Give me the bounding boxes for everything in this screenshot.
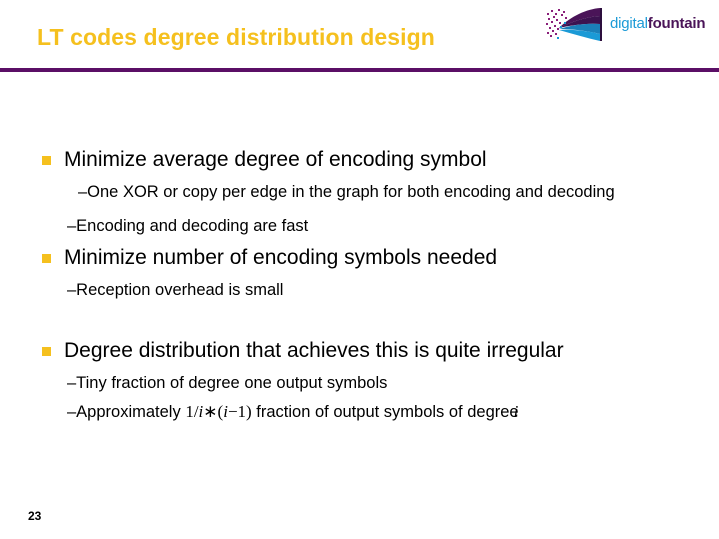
spacer xyxy=(0,237,719,244)
square-bullet-icon xyxy=(42,347,51,356)
slide: digitalfountain LT codes degree distribu… xyxy=(0,0,719,539)
formula-numerator: 1 xyxy=(185,402,194,421)
slide-title: LT codes degree distribution design xyxy=(37,24,435,51)
spacer xyxy=(0,394,719,401)
formula-line-prefix: –Approximately xyxy=(67,403,185,421)
formula-trailing-i: i xyxy=(514,402,519,421)
sub-bullet-2-1: –Reception overhead is small xyxy=(0,279,719,301)
square-bullet-icon xyxy=(42,156,51,165)
sub-bullet-1-2: –Encoding and decoding are fast xyxy=(0,215,719,237)
square-bullet-icon xyxy=(42,254,51,263)
formula-line-middle: fraction of output symbols of degree xyxy=(252,403,519,421)
fountain-logo-icon xyxy=(545,4,607,42)
page-number: 23 xyxy=(28,509,41,523)
spacer xyxy=(0,365,719,372)
spacer xyxy=(0,203,719,215)
brand-wordmark: digitalfountain xyxy=(610,16,705,31)
bullet-item-1: Minimize average degree of encoding symb… xyxy=(0,146,719,174)
slide-body: Minimize average degree of encoding symb… xyxy=(0,146,719,423)
formula-minus-operator: − xyxy=(228,402,238,421)
spacer xyxy=(0,272,719,279)
title-divider xyxy=(0,68,719,72)
bullet-item-3: Degree distribution that achieves this i… xyxy=(0,337,719,365)
bullet-item-1-label: Minimize average degree of encoding symb… xyxy=(64,148,487,171)
brand-logo: digitalfountain xyxy=(545,3,717,43)
brand-word-digital: digital xyxy=(610,15,648,32)
bullet-item-2: Minimize number of encoding symbols need… xyxy=(0,244,719,272)
formula-one-second: 1 xyxy=(238,402,247,421)
brand-word-fountain: fountain xyxy=(648,15,706,32)
spacer-blank-line xyxy=(0,301,719,337)
sub-bullet-3-1: –Tiny fraction of degree one output symb… xyxy=(0,372,719,394)
bullet-item-3-label: Degree distribution that achieves this i… xyxy=(64,339,564,362)
bullet-item-2-label: Minimize number of encoding symbols need… xyxy=(64,246,497,269)
spacer xyxy=(0,174,719,181)
sub-bullet-1-1: –One XOR or copy per edge in the graph f… xyxy=(0,181,719,203)
sub-bullet-3-2-formula-line: –Approximately 1/i∗(i−1) fraction of out… xyxy=(0,401,719,423)
formula-times-operator: ∗ xyxy=(203,402,217,421)
